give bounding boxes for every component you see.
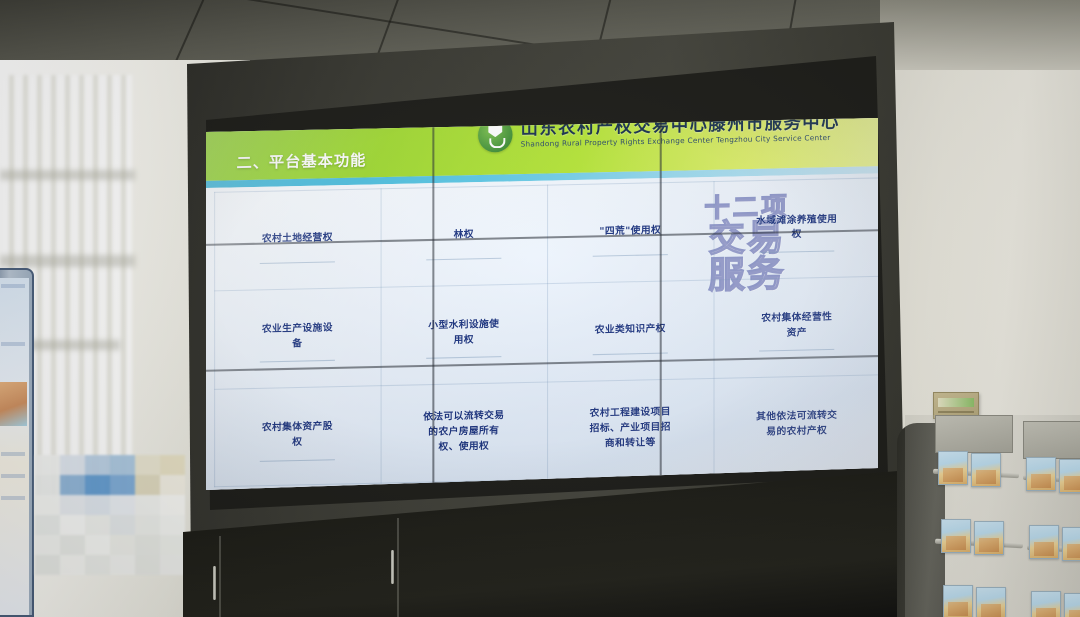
cell-label: 水域滩涂养殖使用权 [755, 212, 838, 244]
table-cell: 其他依法可流转交易的农村产权 [714, 374, 879, 476]
room-scene: 二、平台基本功能 山东农村产权交易中心滕州市服务中心 Shandong Rura… [0, 0, 1080, 617]
right-wall-upper-shadow [880, 0, 1080, 70]
table-cell: 依法可以流转交易的农户房屋所有权、使用权 [381, 381, 547, 483]
panel-seam-vertical [432, 118, 434, 490]
cell-label: 农村集体资产股权 [261, 420, 334, 452]
table-cell: "四荒"使用权 [547, 181, 713, 283]
services-table: 农村土地经营权 林权 "四荒"使用权 水域滩涂养殖使用权 [214, 177, 878, 487]
panel-seam-vertical [660, 118, 662, 486]
table-cell: 小型水利设施使用权 [381, 283, 547, 385]
table-cell: 农村土地经营权 [214, 188, 380, 290]
table-cell: 农村工程建设项目招标、产业项目招商和转让等 [547, 378, 713, 480]
slide-body: 十二项 交易 服务 农村土地经营权 [206, 173, 878, 490]
table-cell: 农业生产设施设备 [214, 287, 380, 389]
cell-label: 农业类知识产权 [591, 322, 670, 339]
table-cell: 农村集体经营性资产 [714, 276, 879, 378]
brochure-rack[interactable] [905, 415, 1080, 617]
information-kiosk[interactable] [0, 268, 34, 617]
table-cell: 水域滩涂养殖使用权 [714, 177, 879, 279]
cell-label: 农村集体经营性资产 [757, 311, 836, 343]
cell-label: 其他依法可流转交易的农村产权 [753, 409, 840, 441]
cell-label: 林权 [427, 227, 500, 244]
table-cell: 农村集体资产股权 [214, 385, 380, 487]
cell-label: 小型水利设施使用权 [424, 318, 503, 350]
cell-label: 农村土地经营权 [261, 231, 334, 248]
table-cell: 林权 [381, 185, 547, 287]
slide-section-title: 二、平台基本功能 [236, 149, 366, 173]
cell-label: "四荒"使用权 [594, 224, 667, 241]
table-cell: 农业类知识产权 [547, 279, 713, 381]
cell-label: 农业生产设施设备 [261, 322, 334, 354]
video-wall-screen[interactable]: 二、平台基本功能 山东农村产权交易中心滕州市服务中心 Shandong Rura… [206, 118, 878, 490]
mosaic-censored-watermark [35, 455, 185, 575]
